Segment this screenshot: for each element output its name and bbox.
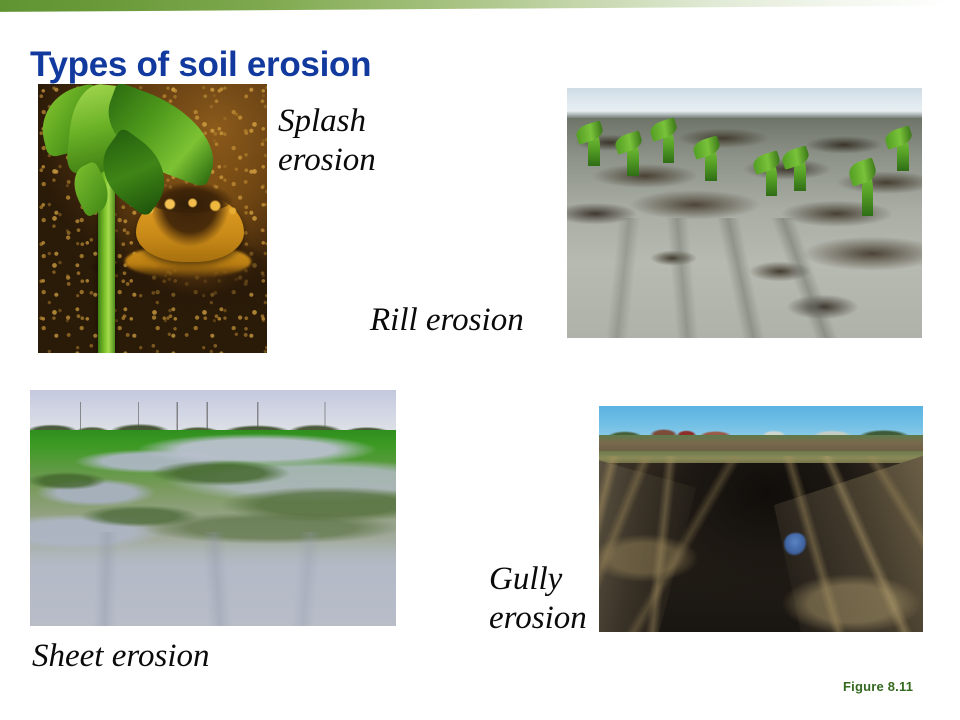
corn-seedling bbox=[627, 143, 638, 176]
page-title: Types of soil erosion bbox=[30, 45, 371, 85]
corn-seedling bbox=[705, 148, 716, 181]
corn-seedling bbox=[588, 133, 599, 166]
caption-gully-erosion: Gully erosion bbox=[489, 560, 649, 638]
water-ripples bbox=[30, 532, 396, 626]
caption-splash-erosion: Splash erosion bbox=[278, 102, 468, 180]
corn-seedling bbox=[862, 173, 873, 216]
caption-sheet-erosion: Sheet erosion bbox=[32, 637, 210, 676]
caption-rill-erosion: Rill erosion bbox=[370, 301, 524, 340]
rill-channels bbox=[567, 218, 922, 338]
corn-seedling bbox=[897, 138, 908, 171]
photo-sheet-erosion bbox=[30, 390, 396, 626]
corn-seedling bbox=[766, 163, 777, 196]
corn-seedling bbox=[794, 158, 805, 191]
top-accent-band bbox=[0, 0, 960, 14]
figure-credit: Figure 8.11 bbox=[843, 679, 913, 694]
accent-band-gradient bbox=[0, 0, 960, 12]
corn-seedling bbox=[663, 131, 674, 164]
photo-rill-erosion bbox=[567, 88, 922, 338]
photo-splash-erosion bbox=[38, 84, 267, 353]
